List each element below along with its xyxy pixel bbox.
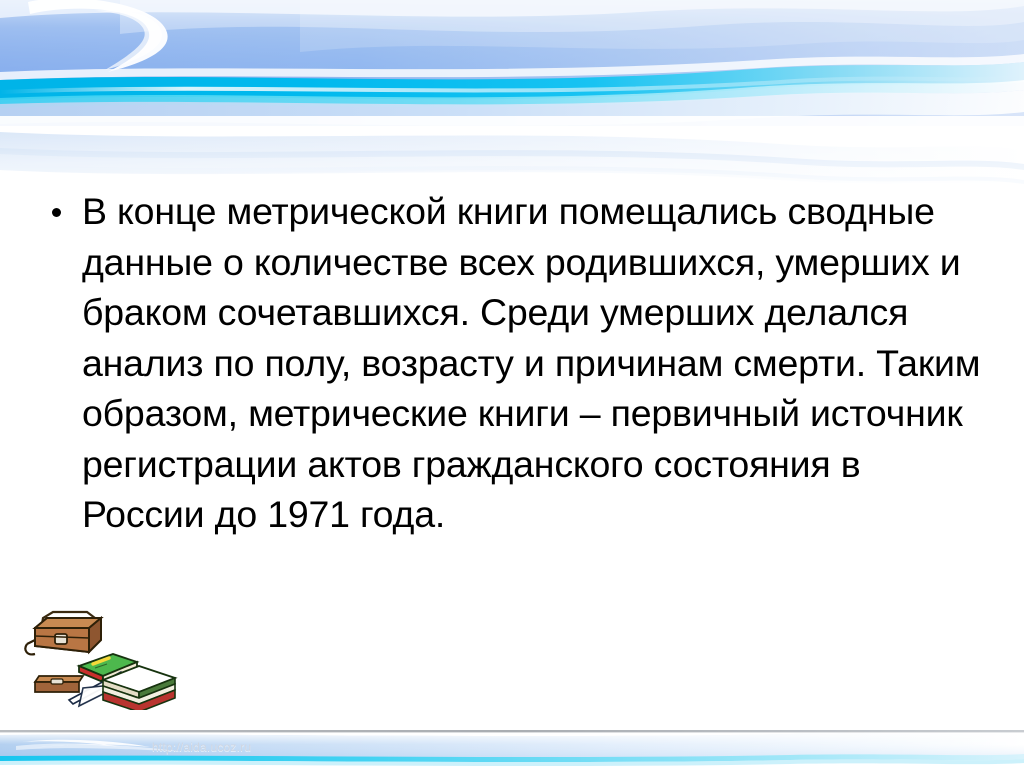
bullet-paragraph-text: В конце метрической книги помещались сво…: [82, 186, 982, 540]
slide-canvas: В конце метрической книги помещались сво…: [0, 0, 1024, 767]
top-decorative-banner: [0, 0, 1024, 126]
briefcase-and-books-illustration: [17, 588, 185, 710]
aida-watermark: http://aida.ucoz.ru: [152, 740, 251, 754]
bullet-point-icon: [52, 186, 82, 222]
bullet-list-item: В конце метрической книги помещались сво…: [52, 186, 982, 540]
slide-body-content: В конце метрической книги помещались сво…: [52, 186, 982, 540]
